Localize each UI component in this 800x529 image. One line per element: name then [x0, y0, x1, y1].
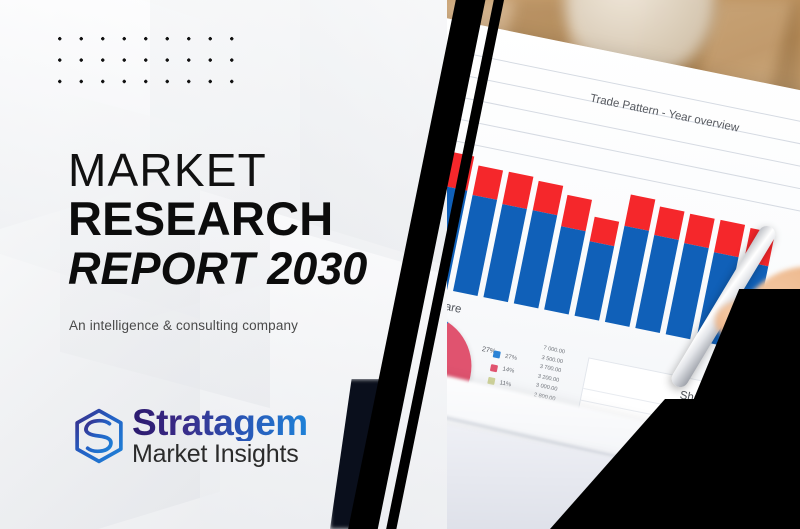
bar-segment-red [502, 172, 533, 209]
brand-name: Stratagem [132, 404, 308, 441]
legend-item: 27% [493, 350, 518, 362]
page-title: MARKET RESEARCH REPORT 2030 [68, 148, 408, 292]
legend-swatch [490, 364, 498, 372]
legend-swatch [493, 350, 501, 358]
bar-segment-red [473, 165, 503, 199]
dot-grid-decoration [48, 27, 242, 95]
title-line-market: MARKET [68, 148, 408, 193]
bar-segment-red [684, 214, 714, 248]
tagline: An intelligence & consulting company [69, 318, 298, 333]
legend-label: 14% [502, 366, 515, 374]
legend-label: 27% [504, 353, 517, 361]
brand-subtitle: Market Insights [132, 442, 308, 467]
cover-photo: Trade Pattern - Year overview ck Market … [447, 0, 800, 529]
brand-text: Stratagem Market Insights [132, 404, 308, 467]
bar-segment-red [714, 220, 745, 257]
title-line-report-year: REPORT 2030 [68, 246, 408, 292]
report-cover: MARKET RESEARCH REPORT 2030 An intellige… [0, 0, 800, 529]
bar-segment-red [624, 195, 655, 231]
hexagon-s-logo-icon [72, 408, 126, 464]
bar-segment-red [533, 180, 563, 214]
bar-segment-red [561, 195, 592, 232]
brand-logo: Stratagem Market Insights [72, 404, 308, 467]
legend-label: 11% [499, 380, 512, 388]
legend-item: 14% [490, 364, 515, 376]
title-line-research: RESEARCH [68, 195, 408, 243]
legend-swatch [487, 377, 495, 385]
